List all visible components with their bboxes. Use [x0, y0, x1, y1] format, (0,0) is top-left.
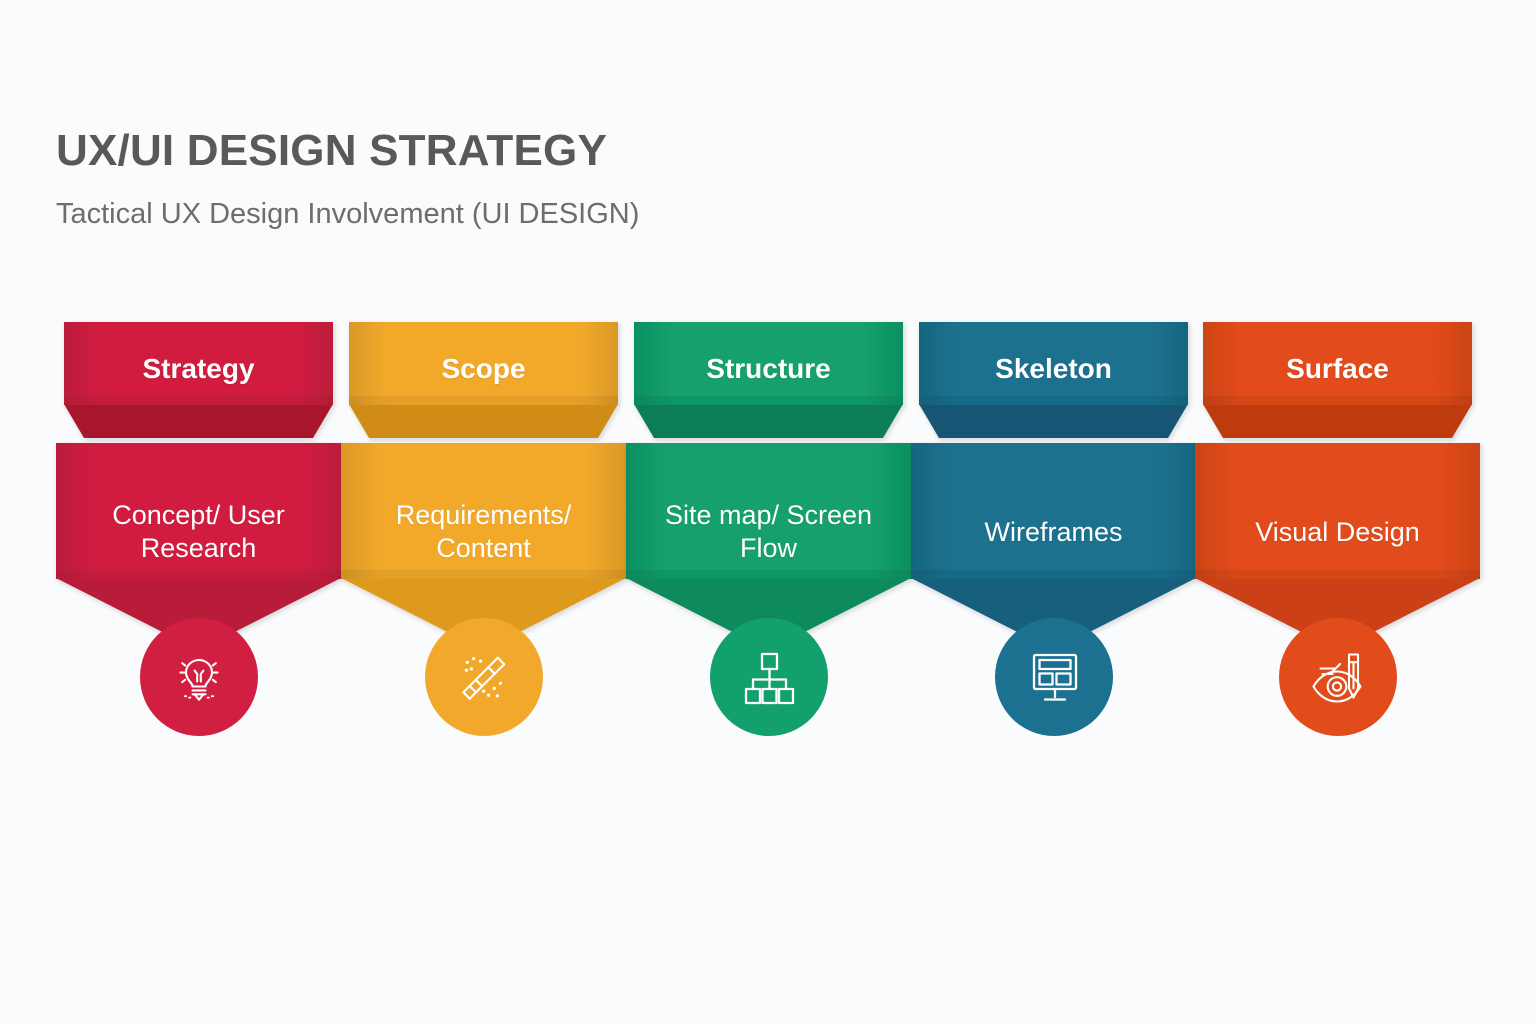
stage-icon-circle[interactable]: [425, 618, 543, 736]
telescope-icon: [453, 646, 515, 708]
funnel-stage-structure[interactable]: StructureSite map/ Screen Flow: [625, 322, 912, 752]
stage-icon-circle[interactable]: [710, 618, 828, 736]
funnel-stage-strategy[interactable]: StrategyConcept/ User Research: [55, 322, 342, 752]
eye-pencil-icon: [1307, 646, 1369, 708]
funnel-stage-skeleton[interactable]: SkeletonWireframes: [910, 322, 1197, 752]
stage-icon-circle[interactable]: [1279, 618, 1397, 736]
funnel-stage-surface[interactable]: SurfaceVisual Design: [1194, 322, 1481, 752]
page-subtitle: Tactical UX Design Involvement (UI DESIG…: [56, 197, 956, 232]
heading-block: UX/UI DESIGN STRATEGY Tactical UX Design…: [56, 126, 956, 232]
stage-icon-circle[interactable]: [995, 618, 1113, 736]
stage-icon-circle[interactable]: [140, 618, 258, 736]
funnel-stage-row: StrategyConcept/ User Research: [0, 322, 1536, 752]
funnel-stage-scope[interactable]: ScopeRequirements/ Content: [340, 322, 627, 752]
lightbulb-icon: [168, 646, 230, 708]
sitemap-icon: [738, 646, 800, 708]
page-title: UX/UI DESIGN STRATEGY: [56, 126, 956, 175]
wireframe-monitor-icon: [1023, 646, 1085, 708]
